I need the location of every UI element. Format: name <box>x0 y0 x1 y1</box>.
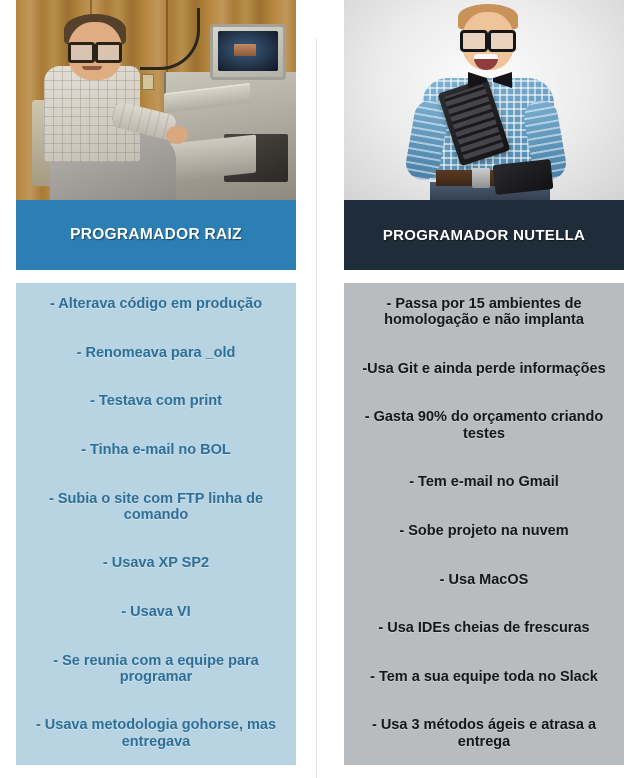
list-item: - Testava com print <box>26 392 286 410</box>
column-programador-nutella: PROGRAMADOR NUTELLA - Passa por 15 ambie… <box>312 0 624 778</box>
list-item: - Sobe projeto na nuvem <box>354 522 614 540</box>
banner-programador-raiz: PROGRAMADOR RAIZ <box>16 200 296 270</box>
list-item: - Usava metodologia gohorse, mas entrega… <box>26 716 286 750</box>
list-item: - Tem e-mail no Gmail <box>354 473 614 491</box>
list-programador-nutella: - Passa por 15 ambientes de homologação … <box>344 283 624 765</box>
banner-title-nutella: PROGRAMADOR NUTELLA <box>383 227 585 244</box>
list-item: - Usava XP SP2 <box>26 554 286 572</box>
list-item: - Renomeava para _old <box>26 344 286 362</box>
list-item: -Usa Git e ainda perde informações <box>354 360 614 378</box>
column-programador-raiz: PROGRAMADOR RAIZ - Alterava código em pr… <box>0 0 312 778</box>
list-item: - Passa por 15 ambientes de homologação … <box>354 295 614 329</box>
hipster-programmer-photo <box>344 0 624 200</box>
list-item: - Subia o site com FTP linha de comando <box>26 490 286 524</box>
list-programador-raiz: - Alterava código em produção - Renomeav… <box>16 283 296 765</box>
list-item: - Usava VI <box>26 603 286 621</box>
banner-title-raiz: PROGRAMADOR RAIZ <box>70 226 242 244</box>
retro-programmer-photo <box>16 0 296 200</box>
list-item: - Alterava código em produção <box>26 295 286 313</box>
list-item: - Usa 3 métodos ágeis e atrasa a entrega <box>354 716 614 750</box>
banner-programador-nutella: PROGRAMADOR NUTELLA <box>344 200 624 270</box>
list-item: - Usa MacOS <box>354 571 614 589</box>
list-item: - Tem a sua equipe toda no Slack <box>354 668 614 686</box>
list-item: - Gasta 90% do orçamento criando testes <box>354 408 614 442</box>
list-item: - Usa IDEs cheias de frescuras <box>354 619 614 637</box>
meme-comparison-image: PROGRAMADOR RAIZ - Alterava código em pr… <box>0 0 624 778</box>
list-item: - Se reunia com a equipe para programar <box>26 652 286 686</box>
list-item: - Tinha e-mail no BOL <box>26 441 286 459</box>
